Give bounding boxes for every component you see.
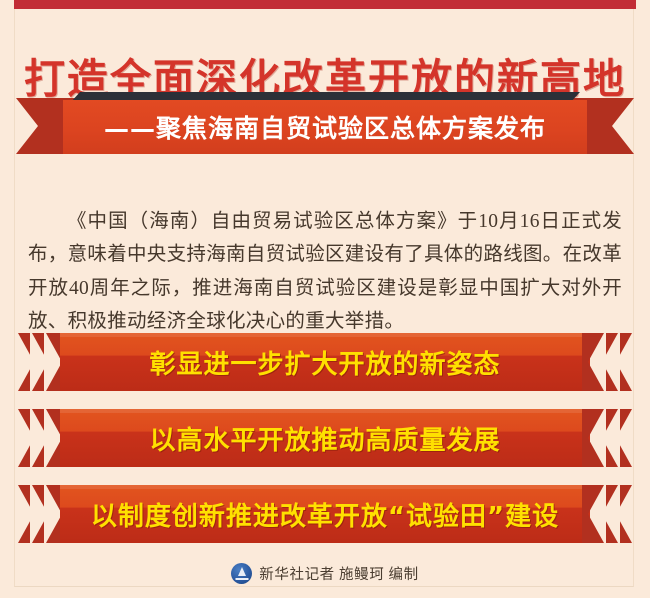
top-rule-decoration xyxy=(14,0,636,9)
headline-banner: 以高水平开放推动高质量发展 xyxy=(18,409,632,467)
credit-line: 新华社记者 施鳗珂 编制 xyxy=(0,563,650,584)
chevron-right-icon xyxy=(586,485,632,543)
credit-text: 新华社记者 施鳗珂 编制 xyxy=(259,563,418,584)
chevron-left-icon xyxy=(18,485,64,543)
banner-body: 以制度创新推进改革开放“试验田”建设 xyxy=(60,485,590,543)
chevron-right-icon xyxy=(586,333,632,391)
chevron-right-icon xyxy=(586,409,632,467)
banner-body: 彰显进一步扩大开放的新姿态 xyxy=(60,333,590,391)
banner-label: 以高水平开放推动高质量发展 xyxy=(149,420,500,457)
banner-label: 彰显进一步扩大开放的新姿态 xyxy=(149,344,500,381)
banner-label: 以制度创新推进改革开放“试验田”建设 xyxy=(91,496,559,533)
ribbon-body: ——聚焦海南自贸试验区总体方案发布 xyxy=(63,100,587,154)
chevron-left-icon xyxy=(18,333,64,391)
page-subtitle: ——聚焦海南自贸试验区总体方案发布 xyxy=(104,109,546,145)
headline-banner: 彰显进一步扩大开放的新姿态 xyxy=(18,333,632,391)
banner-body: 以高水平开放推动高质量发展 xyxy=(60,409,590,467)
headline-banner: 以制度创新推进改革开放“试验田”建设 xyxy=(18,485,632,543)
chevron-left-icon xyxy=(18,409,64,467)
subtitle-ribbon: ——聚焦海南自贸试验区总体方案发布 xyxy=(16,92,634,154)
xinhua-agency-logo-icon xyxy=(231,563,252,584)
body-paragraph: 《中国（海南）自由贸易试验区总体方案》于10月16日正式发布，意味着中央支持海南… xyxy=(28,205,622,339)
